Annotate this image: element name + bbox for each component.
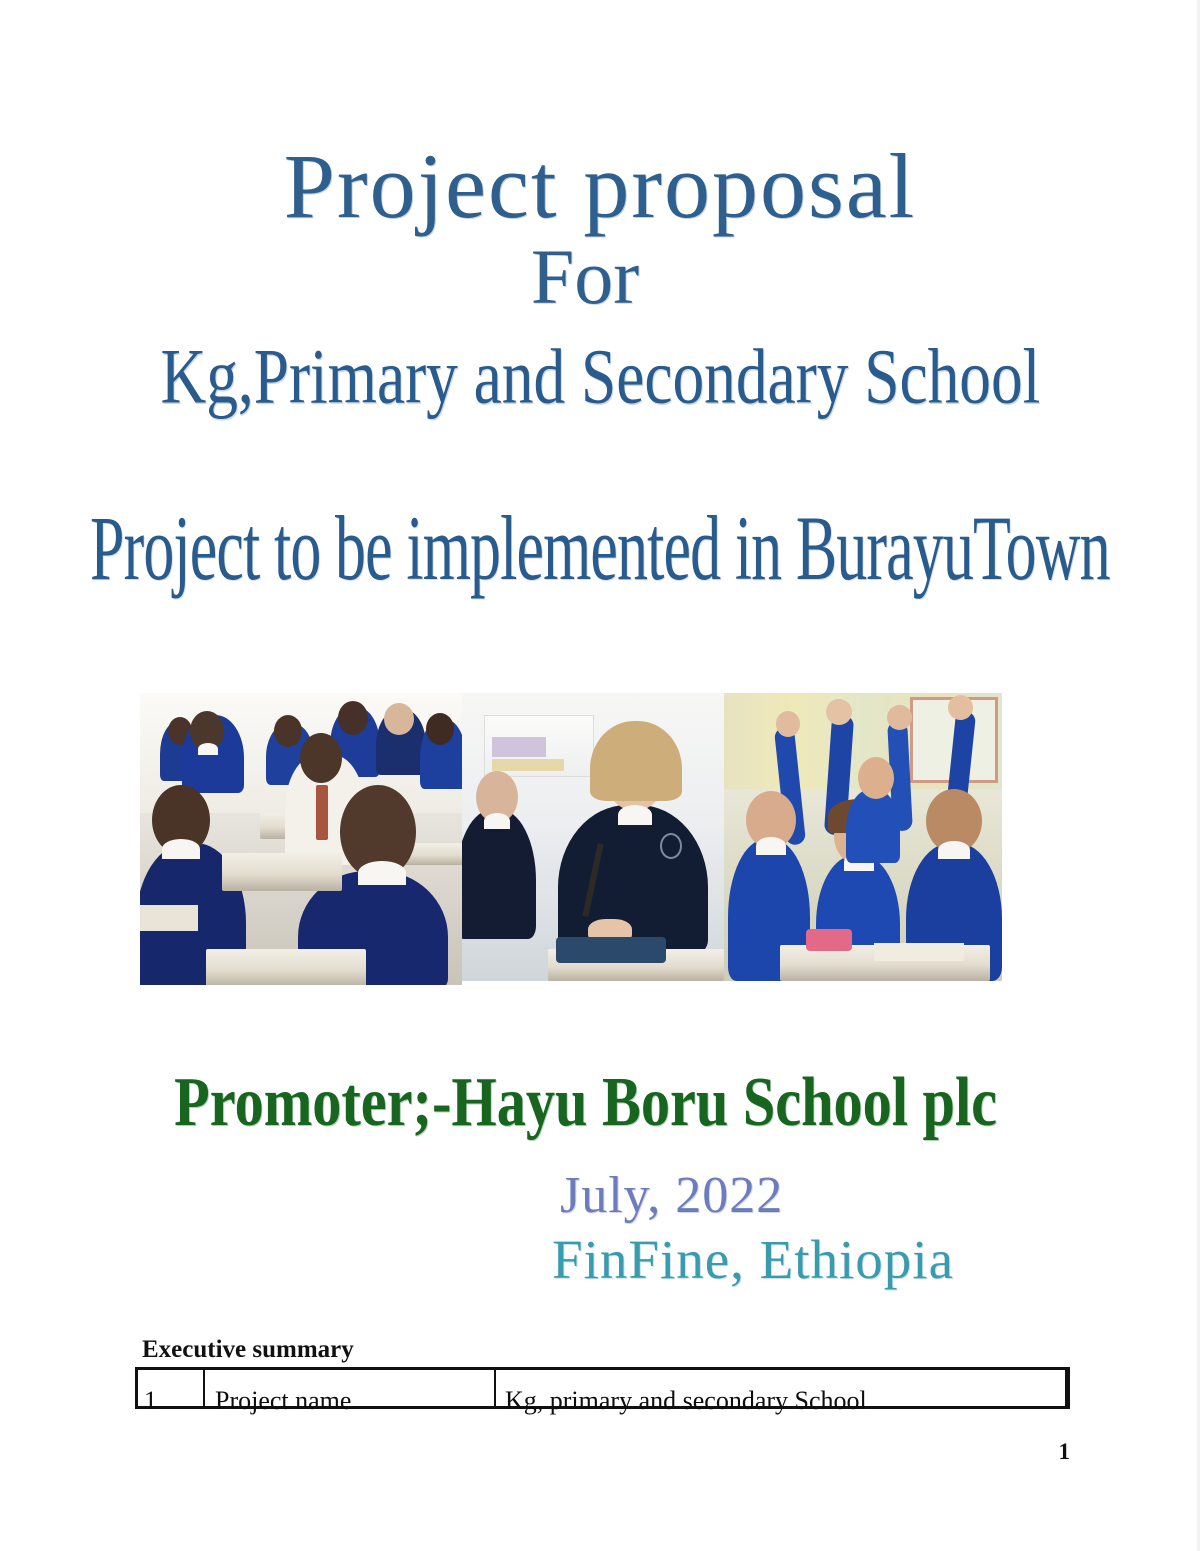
cover-place: FinFine, Ethiopia	[552, 1232, 954, 1287]
photo3-hand-4	[948, 695, 973, 720]
document-page: Project proposal For Kg,Primary and Seco…	[0, 0, 1200, 1551]
photo2-poster-block-2	[492, 759, 564, 771]
photo3-hand-2	[826, 699, 852, 725]
title-for-line: For	[0, 238, 1200, 316]
photo1-desk-front-2	[206, 949, 366, 985]
photo-students-raising-hands	[724, 693, 1002, 981]
page-title: Project proposal	[0, 140, 1200, 232]
photo1-collar-front-left	[162, 839, 200, 859]
photo1-head-rear-3	[274, 715, 302, 747]
photo-classroom-students-seated	[140, 693, 462, 985]
photo3-papers	[874, 943, 964, 961]
photo-pair-right	[462, 693, 1002, 981]
title-subject-line: Kg,Primary and Secondary School	[0, 338, 1200, 402]
title-location-text: Project to be implemented in BurayuTown	[90, 502, 1110, 594]
photo1-collar-front-right	[358, 861, 406, 885]
photo2-blazer-badge	[660, 833, 682, 859]
photo1-head-rear-6	[426, 713, 454, 745]
photo2-hair-foreground	[590, 721, 682, 801]
cover-date: July, 2022	[560, 1170, 783, 1222]
photo1-head-white-shirt	[300, 733, 342, 783]
title-location-line: Project to be implemented in BurayuTown	[0, 502, 1200, 574]
page-number: 1	[0, 1439, 1070, 1465]
photo2-pencil-case	[556, 937, 666, 963]
photo2-collar-background	[484, 813, 510, 829]
photo1-desk-front-1	[222, 853, 342, 891]
photo3-hand-3	[887, 705, 912, 730]
photo-collage	[140, 693, 1002, 985]
title-for-text: For	[531, 238, 639, 316]
photo1-desk-front-3	[140, 905, 198, 931]
photo1-head-rear-4	[338, 701, 368, 735]
table-row-number: 1	[144, 1386, 157, 1416]
photo1-necktie	[316, 785, 328, 840]
photo3-student-4	[846, 789, 900, 863]
photo-student-writing	[462, 693, 724, 981]
photo3-pencil-case	[806, 929, 852, 951]
photo2-collar-foreground	[618, 805, 652, 825]
photo3-collar-1	[756, 837, 786, 855]
promoter-line: Promoter;-Hayu Boru School plc	[0, 1068, 1200, 1130]
photo1-collar-rear-2	[198, 743, 218, 755]
photo3-hand-1	[776, 711, 800, 737]
table-row-value: Kg, primary and secondary School	[505, 1386, 867, 1416]
photo1-head-rear-5	[384, 703, 414, 735]
promoter-text: Promoter;-Hayu Boru School plc	[174, 1068, 997, 1137]
photo3-head-4	[858, 757, 894, 799]
executive-summary-heading: Executive summary	[142, 1336, 354, 1364]
photo2-student-foreground	[558, 805, 708, 955]
photo2-poster-block-1	[492, 737, 546, 757]
title-subject-text: Kg,Primary and Secondary School	[160, 338, 1040, 416]
photo3-collar-3	[938, 841, 970, 859]
table-row-label: Project name	[215, 1386, 351, 1416]
